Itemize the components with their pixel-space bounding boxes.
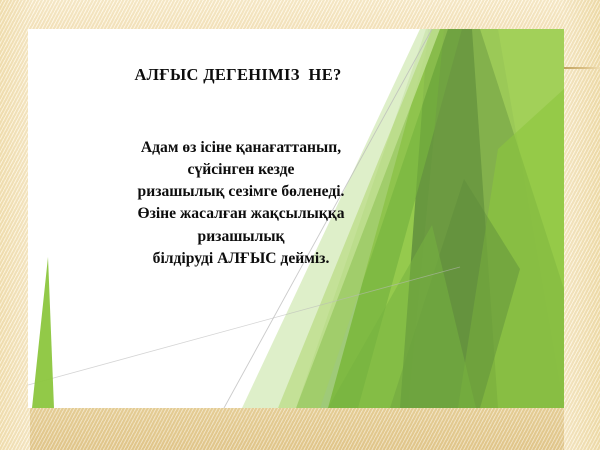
slide-frame: АЛҒЫС ДЕГЕНІМІЗ НЕ? Адам өз ісіне қанаға…	[0, 0, 600, 450]
body-line-6: білдіруді АЛҒЫС дейміз.	[50, 248, 432, 270]
body-line-1: Адам өз ісіне қанағаттанып,	[50, 137, 432, 159]
mat-top-band	[0, 0, 600, 30]
body-line-4: Өзіне жасалған жақсылыққа	[50, 203, 432, 225]
slide-body-text: Адам өз ісіне қанағаттанып, сүйсінген ке…	[50, 137, 432, 270]
slide-text-layer: АЛҒЫС ДЕГЕНІМІЗ НЕ? Адам өз ісіне қанаға…	[28, 29, 564, 408]
mat-left-band	[0, 0, 30, 450]
slide-canvas: АЛҒЫС ДЕГЕНІМІЗ НЕ? Адам өз ісіне қанаға…	[28, 29, 564, 408]
body-line-3: ризашылық сезімге бөленеді.	[50, 181, 432, 203]
right-margin-rule	[564, 67, 600, 69]
body-line-5: ризашылық	[50, 226, 432, 248]
body-line-2: сүйсінген кезде	[50, 159, 432, 181]
mat-bottom-band	[0, 408, 600, 450]
slide-title: АЛҒЫС ДЕГЕНІМІЗ НЕ?	[58, 66, 418, 85]
